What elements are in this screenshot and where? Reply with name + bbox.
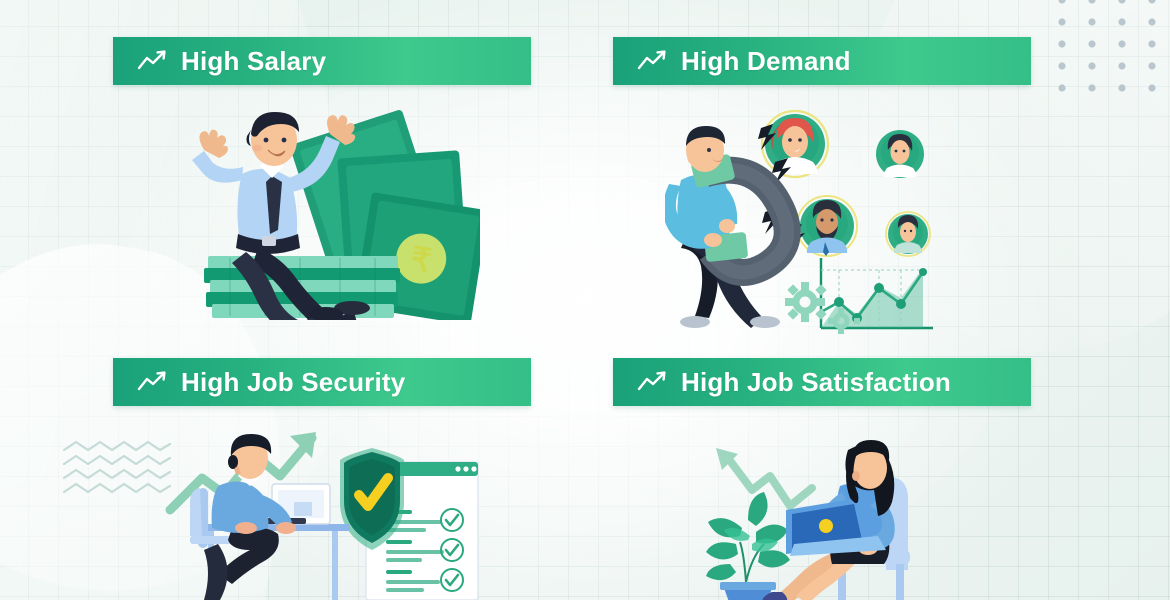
- card-title-high-job-security: High Job Security: [181, 367, 405, 398]
- card-header-high-job-security[interactable]: High Job Security: [113, 358, 531, 406]
- card-title-high-job-satisfaction: High Job Satisfaction: [681, 367, 951, 398]
- potted-plant: [706, 492, 790, 600]
- card-header-high-job-satisfaction[interactable]: High Job Satisfaction: [613, 358, 1031, 406]
- card-title-high-salary: High Salary: [181, 46, 326, 77]
- woman-with-laptop-figure: [762, 440, 895, 600]
- illustration-high-job-satisfaction: [690, 432, 980, 600]
- card-title-high-demand: High Demand: [681, 46, 851, 77]
- card-header-high-salary[interactable]: High Salary: [113, 37, 531, 85]
- infographic-canvas: High Salary ₹ ₹: [0, 0, 1170, 600]
- trending-up-icon: [137, 371, 167, 393]
- illustration-high-job-security: [160, 432, 500, 600]
- person-working-figure: [204, 434, 296, 600]
- dot-matrix: [1044, 0, 1168, 106]
- gear-icon: [785, 282, 827, 322]
- zigzag-waves: [62, 440, 172, 498]
- card-header-high-demand[interactable]: High Demand: [613, 37, 1031, 85]
- illustration-high-demand: [665, 106, 965, 336]
- trending-up-icon: [637, 371, 667, 393]
- trending-up-icon: [137, 50, 167, 72]
- trending-up-icon: [637, 50, 667, 72]
- illustration-high-salary: ₹ ₹ ₹: [180, 108, 480, 320]
